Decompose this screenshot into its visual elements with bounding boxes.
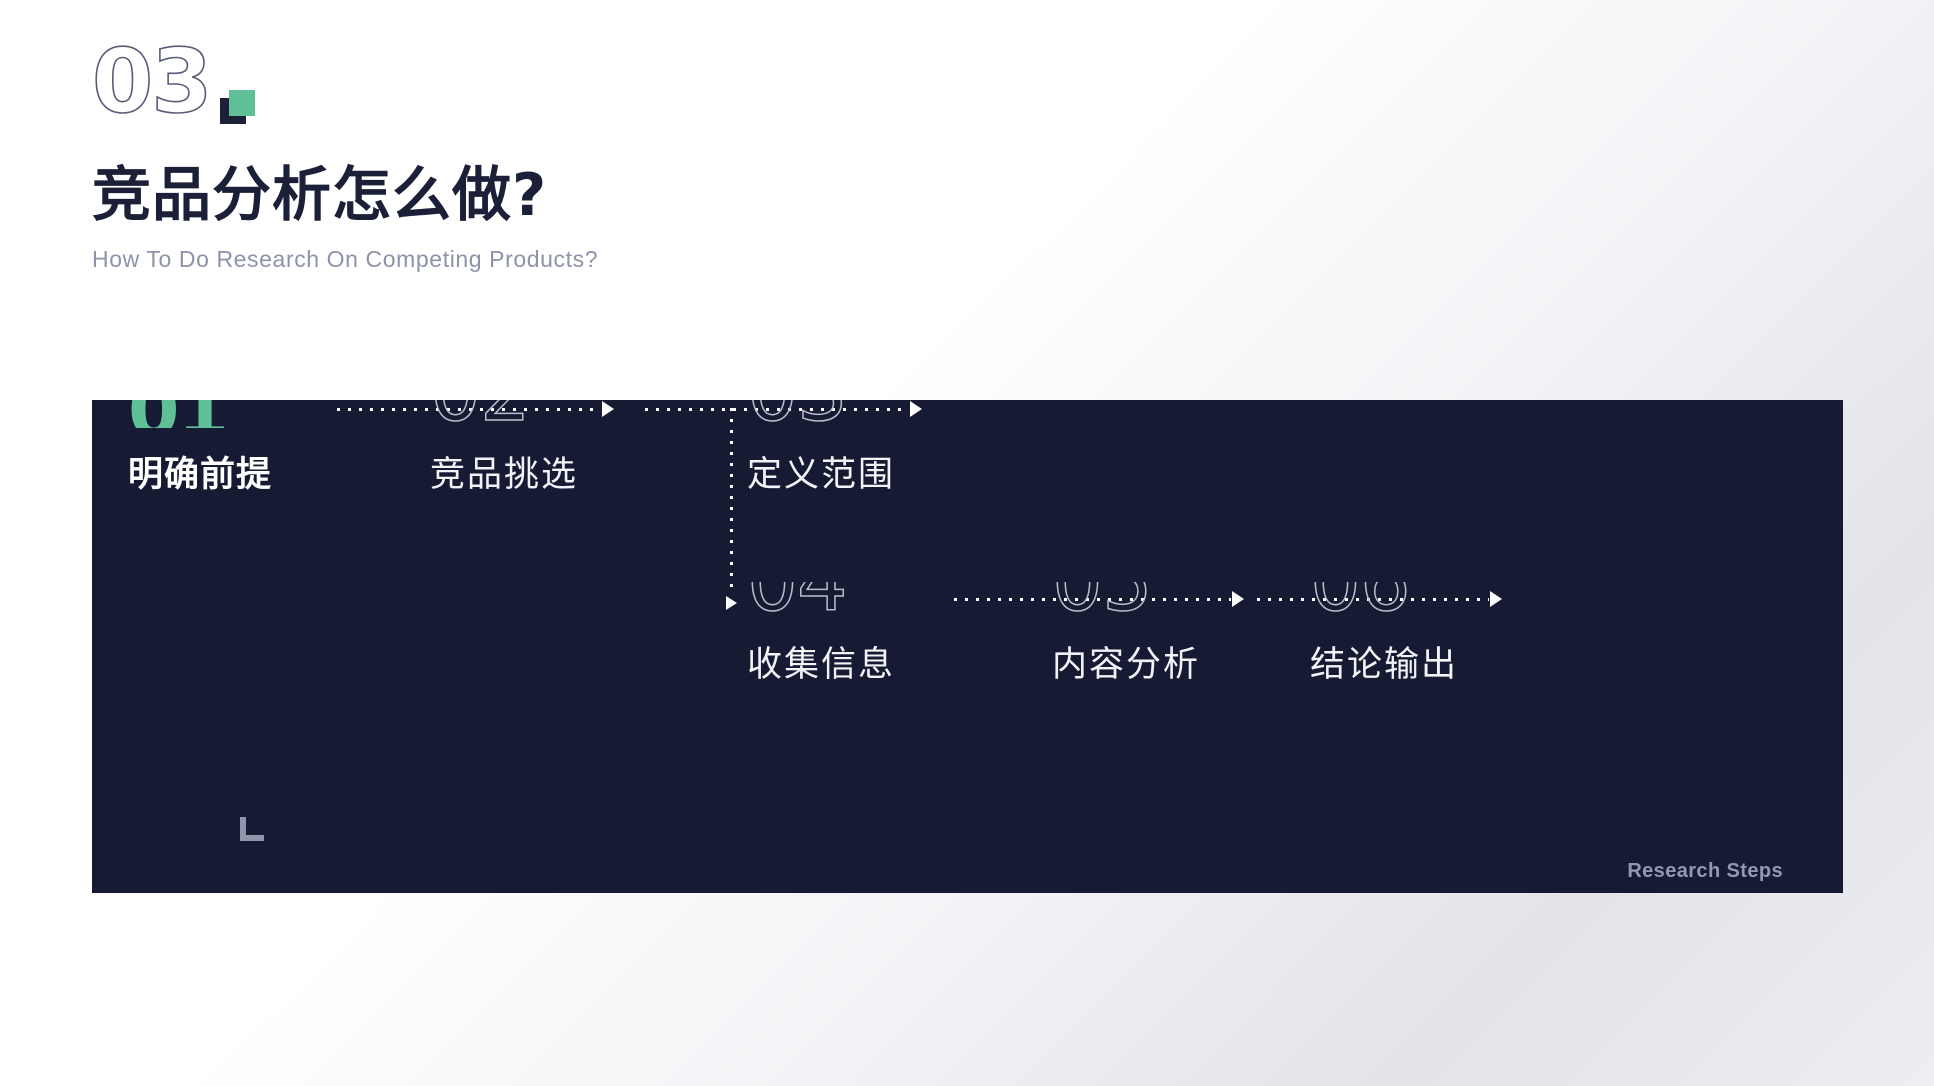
step-item-05[interactable]: 05 内容分析 [1052, 582, 1200, 687]
corner-bracket-icon [240, 817, 264, 841]
accent-square-green [229, 90, 255, 116]
step-item-01[interactable]: 01 明确前提 [128, 400, 272, 497]
arrowhead-icon [1232, 591, 1244, 607]
slide-header: 03 竞品分析怎么做? How To Do Research On Compet… [92, 40, 598, 273]
step-number-outline: 06 [1310, 582, 1430, 618]
section-number-text: 03 [92, 40, 210, 120]
step-label: 明确前提 [128, 446, 272, 497]
step-number-text: 02 [430, 400, 530, 428]
arrowhead-icon [1490, 591, 1502, 607]
step-number-text: 01 [128, 400, 227, 428]
step-label: 收集信息 [747, 636, 895, 687]
connector-dots-vertical [730, 408, 733, 595]
step-number-text: 05 [1052, 582, 1152, 618]
step-number-outline: 02 [430, 400, 550, 428]
arrowhead-icon [726, 596, 737, 610]
step-number-06: 06 [1310, 582, 1458, 618]
panel-label: Research Steps [1627, 860, 1783, 893]
step-number-outline: 03 [747, 400, 867, 428]
connector-row1-to-row2 [726, 408, 736, 610]
step-label: 定义范围 [747, 446, 895, 497]
panel-label-text: Research Steps [1627, 860, 1783, 883]
step-number-04: 04 [747, 582, 895, 618]
step-label: 竞品挑选 [430, 446, 578, 497]
page-title: 竞品分析怎么做? [92, 162, 598, 228]
step-number-text: 04 [747, 582, 847, 618]
arrowhead-icon [602, 401, 614, 417]
step-item-03[interactable]: 03 定义范围 [747, 400, 895, 497]
step-item-04[interactable]: 04 收集信息 [747, 582, 895, 687]
step-number-outline: 04 [747, 582, 867, 618]
step-label: 内容分析 [1052, 636, 1200, 687]
page-subtitle: How To Do Research On Competing Products… [92, 246, 598, 273]
step-number-03: 03 [747, 400, 895, 428]
step-number-text: 03 [747, 400, 847, 428]
step-item-02[interactable]: 02 竞品挑选 [430, 400, 578, 497]
research-steps-panel: Research Steps 01 明确前提 02 竞品挑选 03 定义范围 [92, 400, 1843, 893]
section-number-badge: 03 [92, 40, 598, 140]
step-number-05: 05 [1052, 582, 1200, 618]
step-item-06[interactable]: 06 结论输出 [1310, 582, 1458, 687]
step-number-01: 01 [128, 400, 272, 428]
step-label: 结论输出 [1310, 636, 1458, 687]
arrowhead-icon [910, 401, 922, 417]
step-number-text: 06 [1310, 582, 1410, 618]
step-number-outline: 05 [1052, 582, 1172, 618]
step-number-02: 02 [430, 400, 578, 428]
